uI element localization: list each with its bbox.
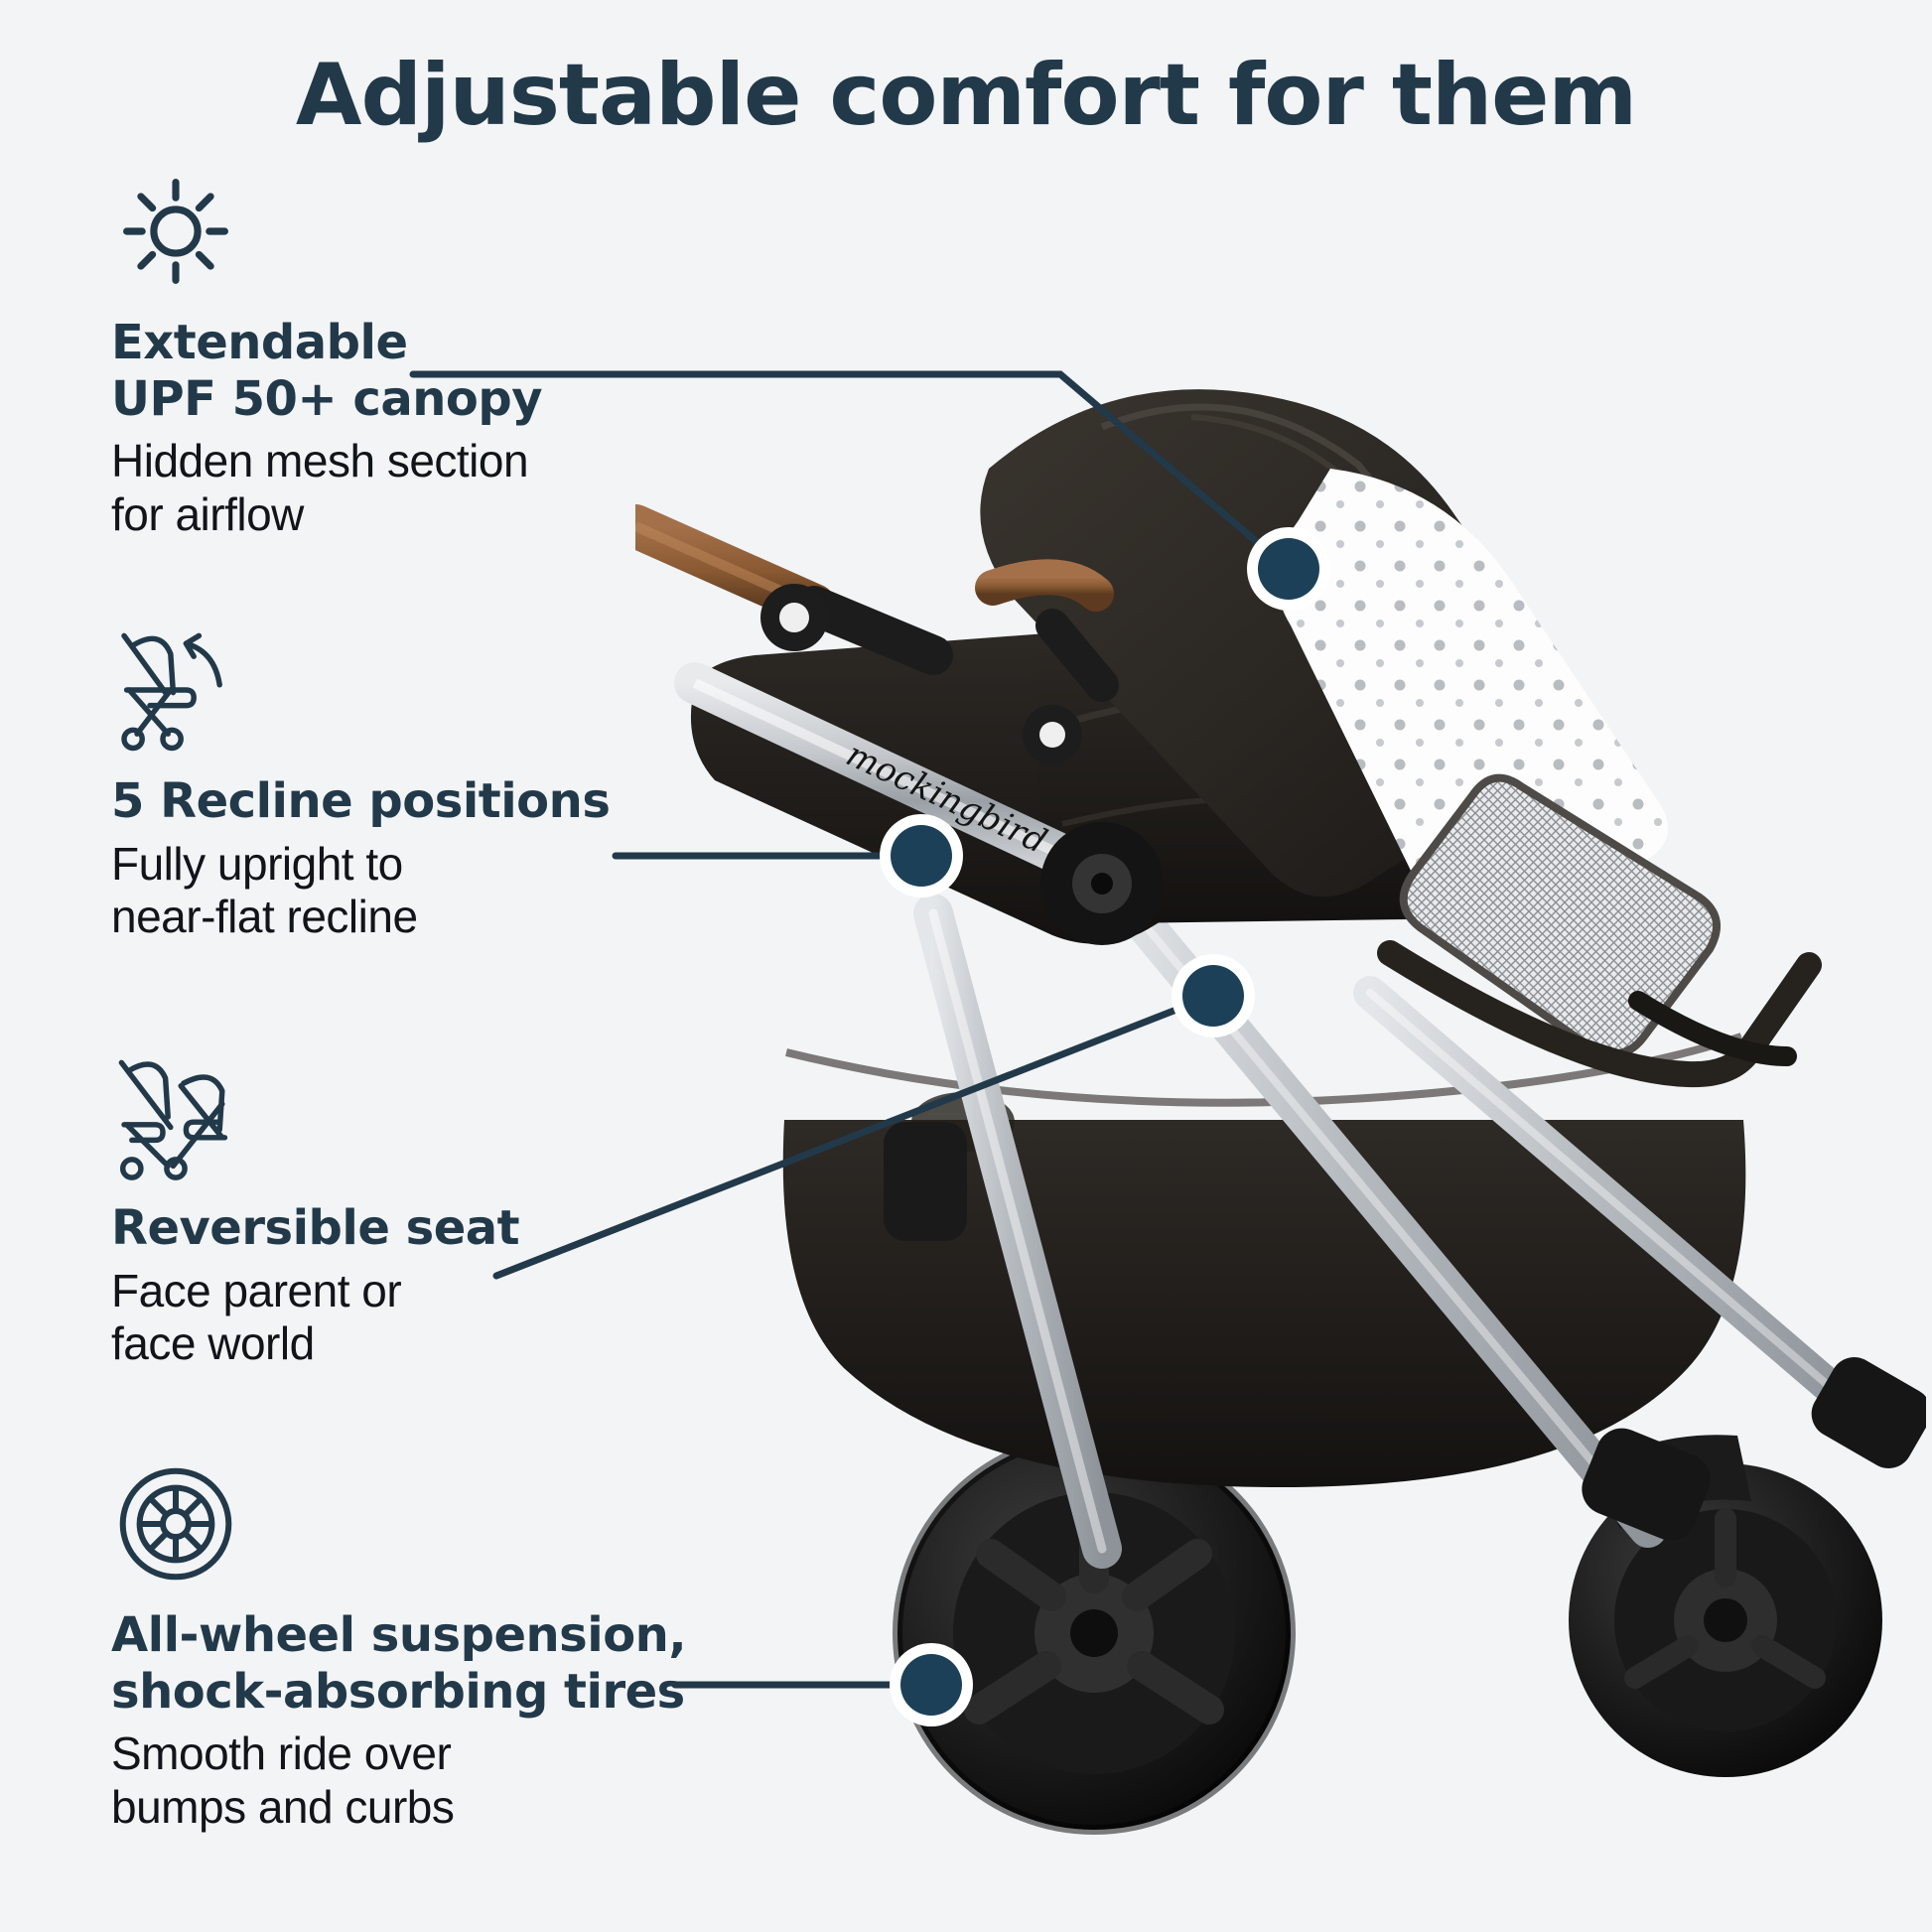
feature-recline-body-2: near-flat recline bbox=[111, 891, 727, 944]
feature-wheels-heading-1: All-wheel suspension, bbox=[111, 1607, 727, 1664]
feature-canopy-heading-2: UPF 50+ canopy bbox=[111, 371, 727, 428]
feature-recline-heading-1: 5 Recline positions bbox=[111, 773, 727, 830]
feature-wheels-heading-2: shock-absorbing tires bbox=[111, 1664, 727, 1721]
feature-reversible-body-1: Face parent or bbox=[111, 1265, 727, 1318]
stroller-recline-icon bbox=[111, 625, 240, 755]
feature-wheels-body-1: Smooth ride over bbox=[111, 1727, 727, 1781]
feature-canopy: Extendable UPF 50+ canopy Hidden mesh se… bbox=[111, 167, 727, 542]
feature-reversible: Reversible seat Face parent or face worl… bbox=[111, 1052, 727, 1371]
feature-reversible-heading-1: Reversible seat bbox=[111, 1200, 727, 1257]
feature-recline: 5 Recline positions Fully upright to nea… bbox=[111, 625, 727, 944]
wheel-icon bbox=[111, 1459, 240, 1588]
feature-canopy-body-2: for airflow bbox=[111, 488, 727, 542]
sun-icon bbox=[111, 167, 240, 296]
stroller-photo: mockingbird bbox=[635, 357, 1926, 1876]
page-title: Adjustable comfort for them bbox=[0, 46, 1932, 145]
feature-reversible-body-2: face world bbox=[111, 1317, 727, 1371]
feature-recline-body-1: Fully upright to bbox=[111, 838, 727, 892]
frame-pivot-hub bbox=[1040, 822, 1164, 945]
feature-canopy-body-1: Hidden mesh section bbox=[111, 435, 727, 488]
feature-wheels-body-2: bumps and curbs bbox=[111, 1781, 727, 1835]
stroller-reversible-icon bbox=[111, 1052, 240, 1181]
storage-basket bbox=[783, 1036, 1746, 1487]
feature-wheels: All-wheel suspension, shock-absorbing ti… bbox=[111, 1459, 727, 1835]
feature-canopy-heading-1: Extendable bbox=[111, 315, 727, 371]
